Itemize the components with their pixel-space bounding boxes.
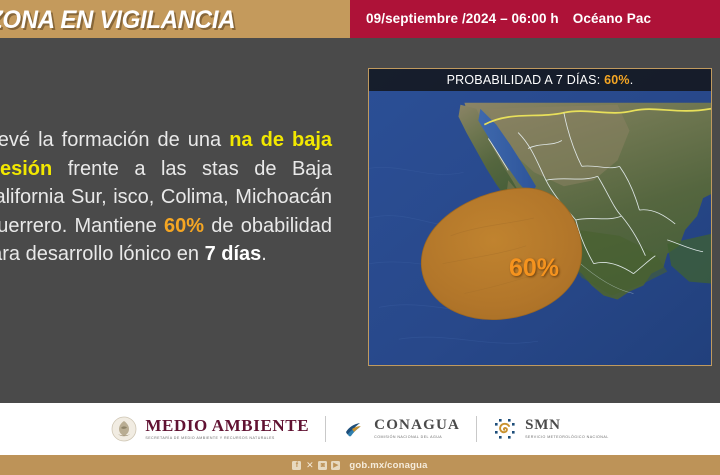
footer-logo-bar: MEDIO AMBIENTE SECRETARÍA DE MEDIO AMBIE…: [0, 403, 720, 455]
logo-subtitle-medio-ambiente: SECRETARÍA DE MEDIO AMBIENTE Y RECURSOS …: [145, 437, 309, 441]
x-icon[interactable]: ✕: [305, 461, 314, 470]
instagram-icon[interactable]: ◙: [318, 461, 327, 470]
probability-area-label: 60%: [509, 254, 559, 283]
bulletin-slide: ZONA EN VIGILANCIA 09/septiembre /2024 –…: [0, 0, 720, 475]
logo-subtitle-conagua: COMISIÓN NACIONAL DEL AGUA: [374, 436, 460, 440]
logo-smn: SMN SERVICIO METEOROLÓGICO NACIONAL: [493, 417, 609, 441]
logo-medio-ambiente: MEDIO AMBIENTE SECRETARÍA DE MEDIO AMBIE…: [111, 416, 309, 442]
logo-divider-2: [476, 416, 477, 442]
days-highlight: 7 días: [205, 243, 262, 265]
date-value: 09/septiembre /2024 – 06:00 h: [366, 11, 559, 26]
probability-highlight: 60%: [164, 215, 204, 237]
smn-spiral-icon: [493, 417, 517, 441]
map-caption: PROBABILIDAD A 7 DÍAS: 60%.: [369, 69, 711, 91]
header-bar: ZONA EN VIGILANCIA 09/septiembre /2024 –…: [0, 0, 720, 38]
basin-name: Océano Pac: [573, 11, 651, 26]
website-url[interactable]: gob.mx/conagua: [349, 460, 427, 471]
conagua-water-eagle-icon: [342, 417, 366, 441]
copy-part-1: prevé la formación de una: [0, 129, 229, 151]
youtube-icon[interactable]: ▶: [331, 461, 340, 470]
logo-subtitle-smn: SERVICIO METEOROLÓGICO NACIONAL: [525, 435, 609, 440]
map-panel[interactable]: PROBABILIDAD A 7 DÍAS: 60%. 60%: [368, 68, 712, 366]
copy-part-4: .: [261, 243, 267, 265]
logo-title-conagua: CONAGUA: [374, 418, 460, 433]
logo-title-medio-ambiente: MEDIO AMBIENTE: [145, 417, 309, 434]
map-canvas: [369, 69, 711, 365]
social-bar: f ✕ ◙ ▶ gob.mx/conagua: [0, 455, 720, 475]
forecast-paragraph: prevé la formación de una na de baja pre…: [0, 126, 350, 269]
facebook-icon[interactable]: f: [292, 461, 301, 470]
logo-conagua: CONAGUA COMISIÓN NACIONAL DEL AGUA: [342, 417, 460, 441]
mexican-eagle-seal-icon: [111, 416, 137, 442]
mexico-satellite-map: [369, 69, 711, 365]
caption-prefix: PROBABILIDAD A 7 DÍAS:: [447, 73, 604, 87]
alert-title: ZONA EN VIGILANCIA: [0, 6, 334, 35]
caption-suffix: .: [630, 73, 634, 87]
date-time-text: 09/septiembre /2024 – 06:00 hOcéano Pac: [366, 11, 651, 26]
logo-title-smn: SMN: [525, 418, 609, 433]
logo-divider-1: [325, 416, 326, 442]
caption-probability: 60%: [604, 73, 630, 87]
